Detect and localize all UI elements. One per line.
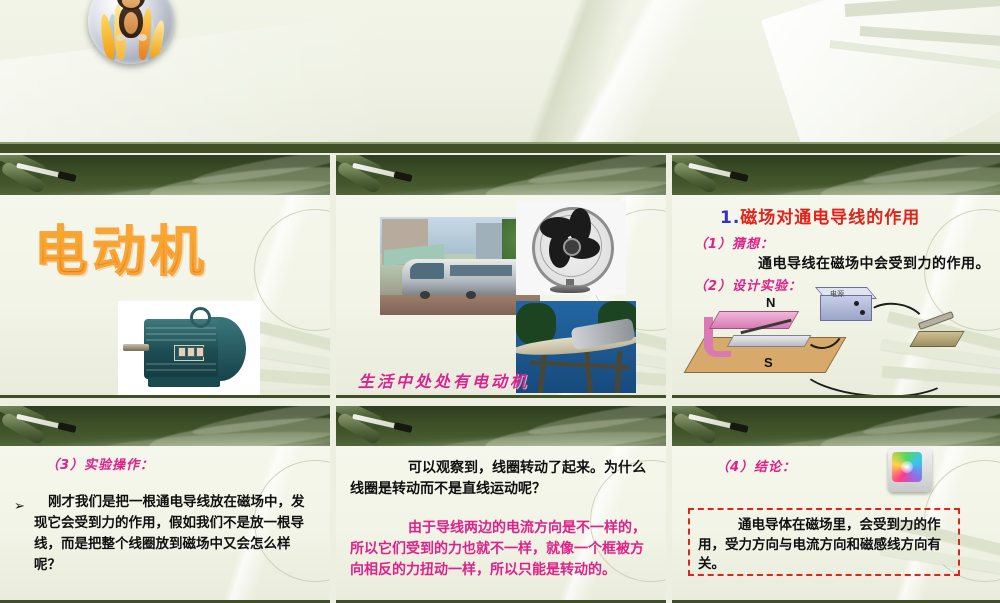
slide-header bbox=[0, 0, 1000, 142]
panel-banner bbox=[336, 406, 666, 446]
motor-fin bbox=[146, 369, 216, 371]
panel-body: 电动机 bbox=[0, 195, 330, 395]
theory-heading: 1.磁场对通电导线的作用 bbox=[720, 203, 920, 228]
pen-tip bbox=[729, 171, 748, 182]
panel-banner bbox=[336, 155, 666, 195]
fan-base bbox=[550, 285, 590, 293]
theory-heading-text: 磁场对通电导线的作用 bbox=[740, 208, 920, 228]
conclusion-text: 通电导体在磁场里，会受到力的作用，受力方向与电流方向和磁感线方向有关。 bbox=[698, 516, 950, 575]
motor-fin bbox=[146, 333, 216, 335]
observation-text: 可以观察到，线圈转动了起来。为什么线圈是转动而不是直线运动呢？ bbox=[350, 458, 652, 500]
bamboo-pen-icon bbox=[672, 406, 758, 446]
diagram-south-pole-label: S bbox=[764, 355, 773, 370]
pen-tip bbox=[57, 422, 76, 433]
pen-tip bbox=[57, 171, 76, 182]
theory-number: 1. bbox=[720, 208, 740, 228]
diagram-terminal bbox=[854, 301, 859, 306]
magnet-wire-circuit-diagram: N S 电源 bbox=[688, 295, 988, 391]
panel-body: 生活中处处有电动机 ✿ bbox=[336, 195, 666, 395]
pen-tip bbox=[729, 422, 748, 433]
panel-banner bbox=[0, 406, 330, 446]
monkey-foot bbox=[138, 34, 147, 41]
operation-label: （3）实验操作： bbox=[46, 454, 154, 473]
panel-body: （3）实验操作： ➢ 刚才我们是把一根通电导线放在磁场中，发现它会受到力的作用，… bbox=[0, 446, 330, 600]
panel-banner bbox=[672, 406, 1000, 446]
header-swoosh bbox=[761, 0, 1000, 142]
theory-label-hypothesis: （1）猜想： bbox=[694, 233, 774, 252]
motor-terminal bbox=[187, 347, 195, 357]
conclusion-box: 通电导体在磁场里，会受到力的作用，受力方向与电流方向和磁感线方向有关。 bbox=[688, 508, 960, 576]
bullet-arrow-icon: ➢ bbox=[14, 498, 25, 514]
panel-operation: （3）实验操作： ➢ 刚才我们是把一根通电导线放在磁场中，发现它会受到力的作用，… bbox=[0, 406, 330, 603]
tram-wheel bbox=[420, 291, 430, 299]
monkey-belly bbox=[124, 12, 138, 34]
panel-banner bbox=[672, 155, 1000, 195]
bamboo-pen-icon bbox=[336, 155, 422, 195]
pen-tip bbox=[393, 171, 412, 182]
slide-title: 电动机 bbox=[34, 207, 208, 286]
life-caption: 生活中处处有电动机 bbox=[358, 368, 529, 392]
motor-terminal bbox=[178, 347, 186, 357]
motor-terminal bbox=[196, 347, 204, 357]
operation-text: 刚才我们是把一根通电导线放在磁场中，发现它会受到力的作用，假如我们不是放一根导线… bbox=[34, 492, 316, 576]
header-divider bbox=[0, 144, 1000, 153]
swirl-core bbox=[901, 461, 913, 473]
motor-lifting-hook bbox=[190, 307, 211, 328]
bamboo-pen-icon bbox=[336, 406, 422, 446]
electric-fan-photo bbox=[516, 201, 626, 295]
panel-theory: 1.磁场对通电导线的作用 （1）猜想： 通电导线在磁场中会受到力的作用。 （2）… bbox=[672, 155, 1000, 398]
rainbow-swirl-icon bbox=[888, 448, 932, 492]
panel-title: 电动机 bbox=[0, 155, 330, 398]
tram-window bbox=[450, 265, 512, 276]
pen-tip bbox=[393, 422, 412, 433]
theory-hypothesis-text: 通电导线在磁场中会受到力的作用。 bbox=[758, 253, 990, 273]
bamboo-pen-icon bbox=[672, 155, 758, 195]
panel-banner bbox=[0, 155, 330, 195]
bamboo-pen-icon bbox=[0, 155, 86, 195]
panel-body: 可以观察到，线圈转动了起来。为什么线圈是转动而不是直线运动呢？ 由于导线两边的电… bbox=[336, 446, 666, 600]
conclusion-label: （4）结论： bbox=[716, 456, 796, 475]
panel-observation: 可以观察到，线圈转动了起来。为什么线圈是转动而不是直线运动呢？ 由于导线两边的电… bbox=[336, 406, 666, 603]
swirl-gradient bbox=[892, 452, 922, 482]
theory-label-design: （2）设计实验： bbox=[694, 275, 802, 294]
header-sheen bbox=[0, 15, 388, 142]
motor-base bbox=[148, 377, 220, 387]
tree bbox=[516, 303, 556, 345]
tram-wheel bbox=[466, 291, 476, 299]
motor-fin bbox=[146, 339, 216, 341]
panel-body: （4）结论： 通电导体在磁场里，会受到力的作用，受力方向与电流方向和磁感线方向有… bbox=[672, 446, 1000, 600]
monkey-foot bbox=[116, 34, 125, 41]
fan-hub bbox=[563, 238, 581, 256]
roller-coaster-photo bbox=[516, 301, 636, 393]
explanation-text: 由于导线两边的电流方向是不一样的，所以它们受到的力也就不一样，就像一个框被方向相… bbox=[350, 518, 652, 581]
diagram-rails bbox=[727, 335, 812, 347]
electric-motor-photo bbox=[118, 301, 260, 395]
panel-body: 1.磁场对通电导线的作用 （1）猜想： 通电导线在磁场中会受到力的作用。 （2）… bbox=[672, 195, 1000, 395]
bamboo-pen-icon bbox=[0, 406, 86, 446]
diagram-north-pole-label: N bbox=[766, 295, 775, 310]
motor-shaft bbox=[123, 344, 149, 351]
slide-canvas: 电动机 bbox=[0, 0, 1000, 600]
motor-fin bbox=[146, 327, 216, 329]
panel-life-examples: 生活中处处有电动机 ✿ bbox=[336, 155, 666, 398]
tram-windshield bbox=[410, 263, 444, 279]
building bbox=[476, 223, 502, 263]
panel-conclusion: （4）结论： 通电导体在磁场里，会受到力的作用，受力方向与电流方向和磁感线方向有… bbox=[672, 406, 1000, 603]
diagram-power-label: 电源 bbox=[830, 289, 844, 299]
motor-fin bbox=[146, 363, 216, 365]
